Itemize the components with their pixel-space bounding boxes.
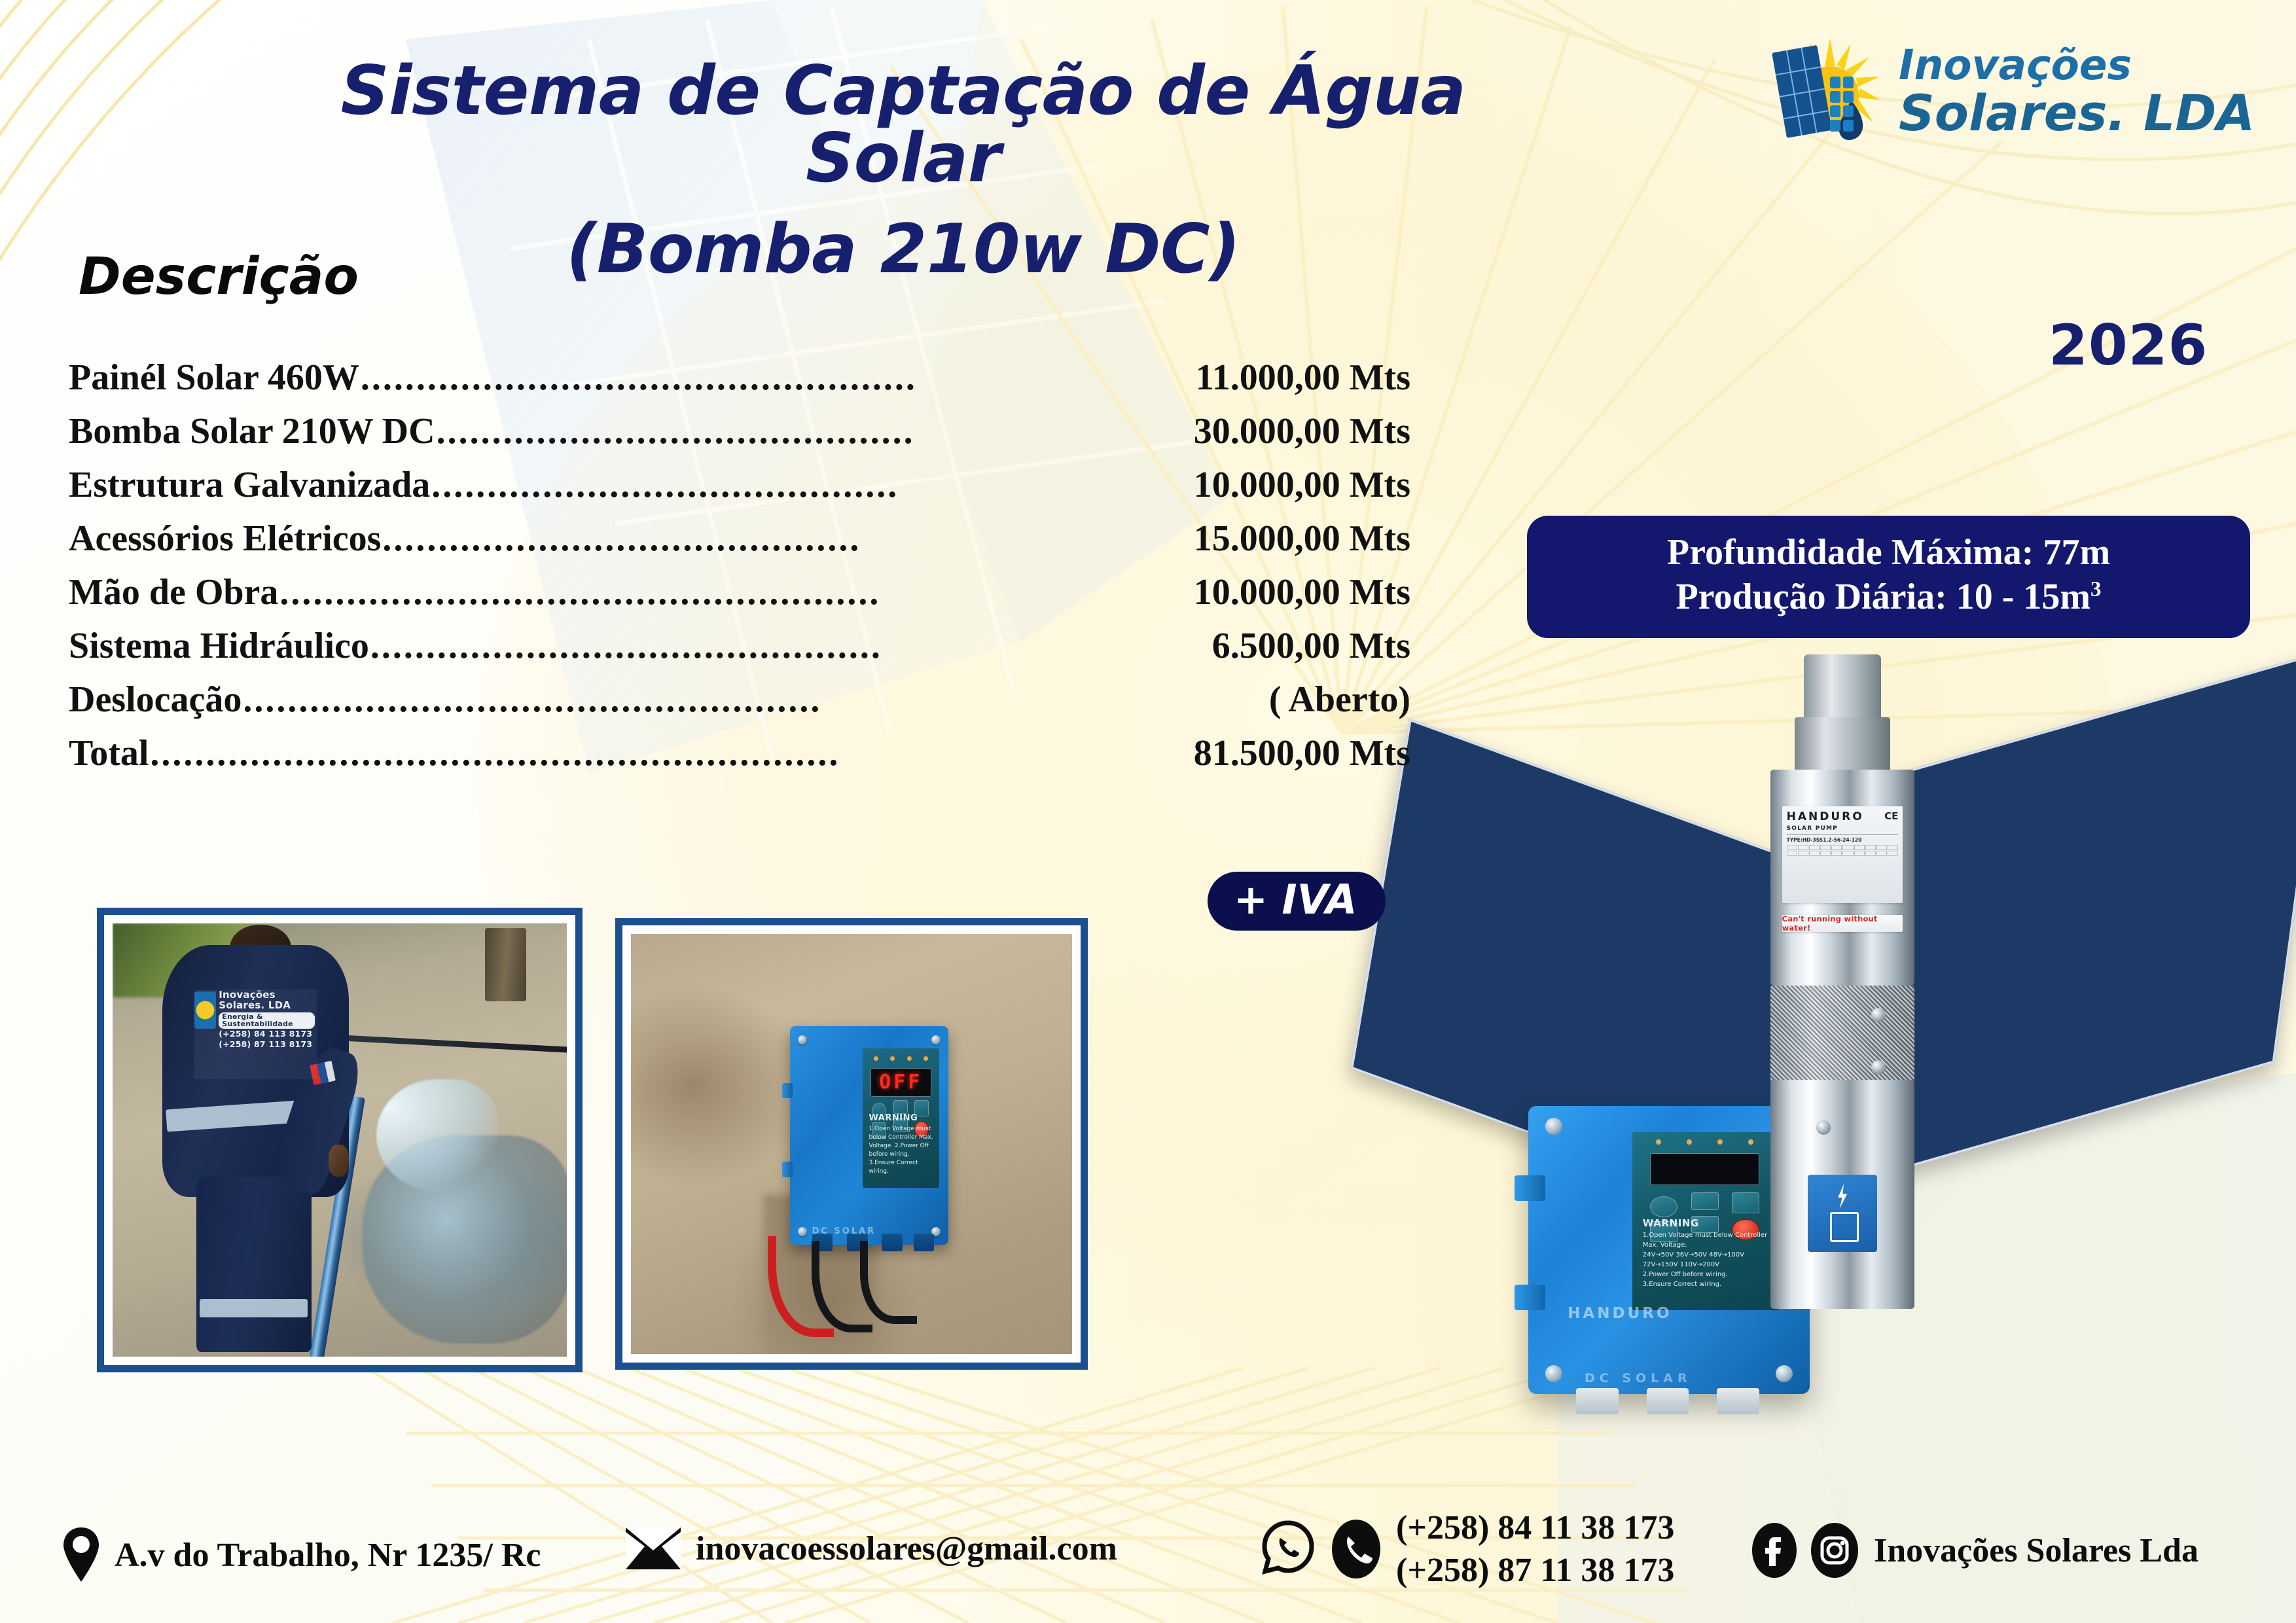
price-row: Estrutura Galvanizada ..................… xyxy=(69,464,1410,518)
pump-type: TYPE:HD-3SS1.2-56-24-120 xyxy=(1787,834,1899,843)
footer-social-handle: Inovações Solares Lda xyxy=(1874,1531,2198,1570)
logo-line-2: Solares. LDA xyxy=(1899,88,2255,138)
price-value: 10.000,00 Mts xyxy=(1194,571,1410,613)
footer-social: Inovações Solares Lda xyxy=(1751,1522,2198,1579)
price-dots: ........................................… xyxy=(243,679,1267,721)
footer-phones: (+258) 84 11 38 173 (+258) 87 11 38 173 xyxy=(1260,1507,1674,1592)
price-label: Mão de Obra xyxy=(69,571,278,613)
spec-production: Produção Diária: 10 - 15m3 xyxy=(1540,575,2237,619)
photo2-warning-title: WARNING xyxy=(869,1113,918,1123)
price-label: Total xyxy=(69,732,149,774)
controller-warning-2: 2.Power Off before wiring. xyxy=(1643,1270,1772,1279)
price-dots: ........................................… xyxy=(361,357,1194,399)
logo-text: Inovações Solares. LDA xyxy=(1899,45,2255,138)
spec-badge: Profundidade Máxima: 77m Produção Diária… xyxy=(1527,516,2250,638)
controller-warning-3: 3.Ensure Correct wiring. xyxy=(1643,1279,1772,1289)
footer-email[interactable]: inovacoessolares@gmail.com xyxy=(625,1527,1117,1570)
location-pin-icon xyxy=(62,1527,100,1583)
price-label: Sistema Hidráulico xyxy=(69,625,369,667)
company-logo: Inovações Solares. LDA xyxy=(1767,34,2265,149)
price-label: Estrutura Galvanizada xyxy=(69,464,430,506)
pump-spec-label: CE HANDURO SOLAR PUMP TYPE:HD-3SS1.2-56-… xyxy=(1782,806,1903,903)
iva-badge: + IVA xyxy=(1208,872,1386,931)
controller-warning-title: WARNING xyxy=(1643,1217,1699,1229)
uniform-phone-2: (+258) 87 113 8173 xyxy=(219,1039,314,1049)
price-value: 15.000,00 Mts xyxy=(1194,518,1410,560)
price-value: 11.000,00 Mts xyxy=(1196,357,1410,399)
envelope-icon xyxy=(625,1527,681,1570)
phone-icon[interactable] xyxy=(1331,1519,1382,1579)
uniform-phone-1: (+258) 84 113 8173 xyxy=(219,1029,314,1039)
technician-photo: Inovações Solares. LDA Energia & Sustent… xyxy=(97,908,583,1372)
price-dots: ........................................… xyxy=(370,625,1211,667)
solar-panel-sun-icon xyxy=(1767,37,1888,145)
price-value: 10.000,00 Mts xyxy=(1194,464,1410,506)
footer-address-text: A.v do Trabalho, Nr 1235/ Rc xyxy=(115,1536,541,1575)
price-row: Sistema Hidráulico .....................… xyxy=(69,625,1410,679)
photo2-warning-body: 1.Open Voltage must below Controller Max… xyxy=(869,1125,935,1176)
uniform-tagline: Energia & Sustentabilidade xyxy=(219,1012,314,1029)
pump-brand: HANDURO xyxy=(1787,810,1899,823)
footer-address: A.v do Trabalho, Nr 1235/ Rc xyxy=(62,1527,541,1583)
price-dots: ........................................… xyxy=(382,518,1192,560)
facebook-icon[interactable] xyxy=(1751,1522,1798,1579)
price-label: Acessórios Elétricos xyxy=(69,518,381,560)
logo-line-1: Inovações xyxy=(1899,45,2255,86)
price-dots: ........................................… xyxy=(279,571,1192,613)
price-value: ( Aberto) xyxy=(1269,679,1410,721)
price-row: Mão de Obra ............................… xyxy=(69,571,1410,625)
spec-production-exponent: 3 xyxy=(2090,578,2102,601)
controller-brand: HANDURO xyxy=(1568,1305,1725,1346)
whatsapp-icon[interactable] xyxy=(1260,1519,1316,1579)
pump-decal xyxy=(1808,1175,1877,1252)
footer-phone-1: (+258) 84 11 38 173 xyxy=(1396,1507,1674,1548)
price-row: Bomba Solar 210W DC ....................… xyxy=(69,410,1410,464)
price-dots: ........................................… xyxy=(437,410,1193,452)
footer-phone-2: (+258) 87 11 38 173 xyxy=(1396,1550,1674,1591)
price-list: Painél Solar 460W ......................… xyxy=(69,357,1410,786)
controller-warning-volts: 24V→50V 36V→50V 48V→100V 72V→150V 110V→2… xyxy=(1643,1250,1772,1270)
price-value: 81.500,00 Mts xyxy=(1194,732,1410,774)
price-value: 6.500,00 Mts xyxy=(1212,625,1410,667)
controller-warning-1: 1.Open Voltage must below Controller Max… xyxy=(1643,1230,1772,1250)
title-line-1: Sistema de Captação de Água Solar xyxy=(281,58,1525,192)
footer-email-text: inovacoessolares@gmail.com xyxy=(696,1529,1117,1568)
pump-subtitle: SOLAR PUMP xyxy=(1787,825,1899,832)
price-value: 30.000,00 Mts xyxy=(1194,410,1410,452)
controller-display: OFF xyxy=(870,1068,931,1097)
price-dots: ........................................… xyxy=(431,464,1192,506)
pump-warning-label: Can't running without water! xyxy=(1782,915,1903,932)
controller-photo: OFF WARNING 1.Open Voltage must below Co… xyxy=(615,918,1088,1370)
solar-pump-render: CE HANDURO SOLAR PUMP TYPE:HD-3SS1.2-56-… xyxy=(1770,654,1914,1309)
controller-label: DC SOLAR xyxy=(1585,1371,1692,1385)
ce-mark: CE xyxy=(1884,810,1898,822)
pump-controller-render: WARNING 1.Open Voltage must below Contro… xyxy=(1528,1106,1810,1394)
product-render: WARNING 1.Open Voltage must below Contro… xyxy=(1368,713,2296,1407)
price-row: Deslocação .............................… xyxy=(69,679,1410,732)
instagram-icon[interactable] xyxy=(1810,1522,1859,1579)
spec-production-text: Produção Diária: 10 - 15m xyxy=(1676,577,2090,617)
price-row-total: Total ..................................… xyxy=(69,732,1410,786)
price-row: Acessórios Elétricos ...................… xyxy=(69,518,1410,571)
price-dots: ........................................… xyxy=(150,732,1192,774)
spec-depth: Profundidade Máxima: 77m xyxy=(1540,530,2237,575)
controller-render-display xyxy=(1650,1153,1759,1185)
page-title: Sistema de Captação de Água Solar (Bomba… xyxy=(281,58,1525,283)
price-label: Deslocação xyxy=(69,679,242,721)
price-row: Painél Solar 460W ......................… xyxy=(69,357,1410,410)
description-heading: Descrição xyxy=(79,247,359,306)
price-label: Bomba Solar 210W DC xyxy=(69,410,435,452)
uniform-logo-line-2: Solares. LDA xyxy=(219,1000,314,1010)
year-label: 2026 xyxy=(2049,313,2208,378)
uniform-logo-line-1: Inovações xyxy=(219,990,314,1000)
footer-contact-bar: A.v do Trabalho, Nr 1235/ Rc inovacoesso… xyxy=(0,1495,2296,1620)
title-line-2: (Bomba 210w DC) xyxy=(281,216,1525,283)
price-label: Painél Solar 460W xyxy=(69,357,359,399)
